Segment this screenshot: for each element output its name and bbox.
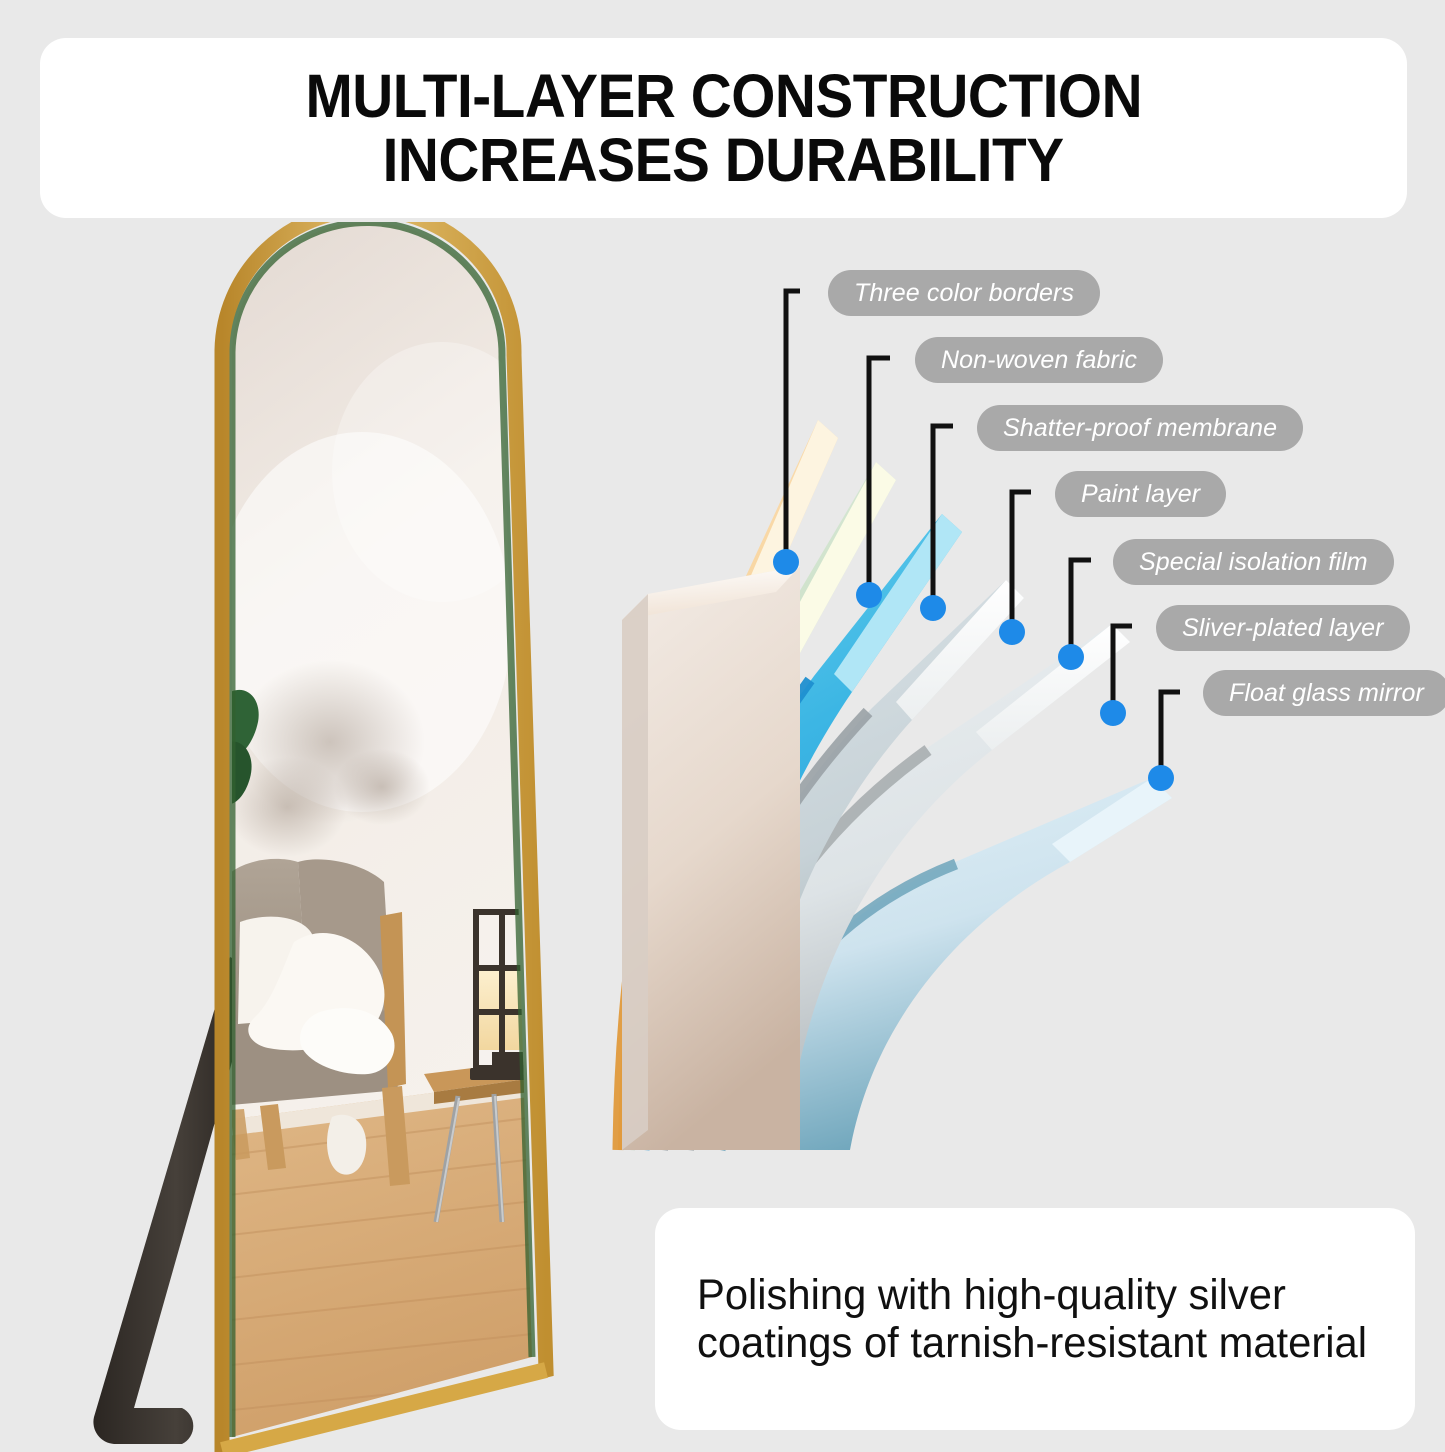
mirror-illustration bbox=[62, 222, 622, 1452]
callout-label-float-glass-mirror[interactable]: Float glass mirror bbox=[1203, 670, 1445, 716]
callout-label-sliver-plated-layer[interactable]: Sliver-plated layer bbox=[1156, 605, 1410, 651]
callout-label-three-color-borders[interactable]: Three color borders bbox=[828, 270, 1100, 316]
layer-three-color-borders bbox=[622, 566, 800, 1150]
infographic-canvas: MULTI-LAYER CONSTRUCTION INCREASES DURAB… bbox=[0, 0, 1445, 1445]
page-title-line-1: MULTI-LAYER CONSTRUCTION bbox=[305, 64, 1142, 128]
caption-line-1: Polishing with high-quality silver bbox=[697, 1271, 1393, 1319]
page-title-line-2: INCREASES DURABILITY bbox=[383, 128, 1064, 192]
lantern-lamp bbox=[470, 910, 560, 1080]
title-card: MULTI-LAYER CONSTRUCTION INCREASES DURAB… bbox=[40, 38, 1407, 218]
caption-card: Polishing with high-quality silver coati… bbox=[655, 1208, 1415, 1430]
product-photo bbox=[62, 222, 622, 1452]
layer-diagram: Three color borders Non-woven fabric Sha… bbox=[600, 250, 1445, 1160]
callout-label-special-isolation-film[interactable]: Special isolation film bbox=[1113, 539, 1394, 585]
callout-label-paint-layer[interactable]: Paint layer bbox=[1055, 471, 1226, 517]
caption-line-2: coatings of tarnish-resistant material bbox=[697, 1319, 1393, 1367]
callout-label-shatter-proof-membrane[interactable]: Shatter-proof membrane bbox=[977, 405, 1303, 451]
callout-label-non-woven-fabric[interactable]: Non-woven fabric bbox=[915, 337, 1163, 383]
